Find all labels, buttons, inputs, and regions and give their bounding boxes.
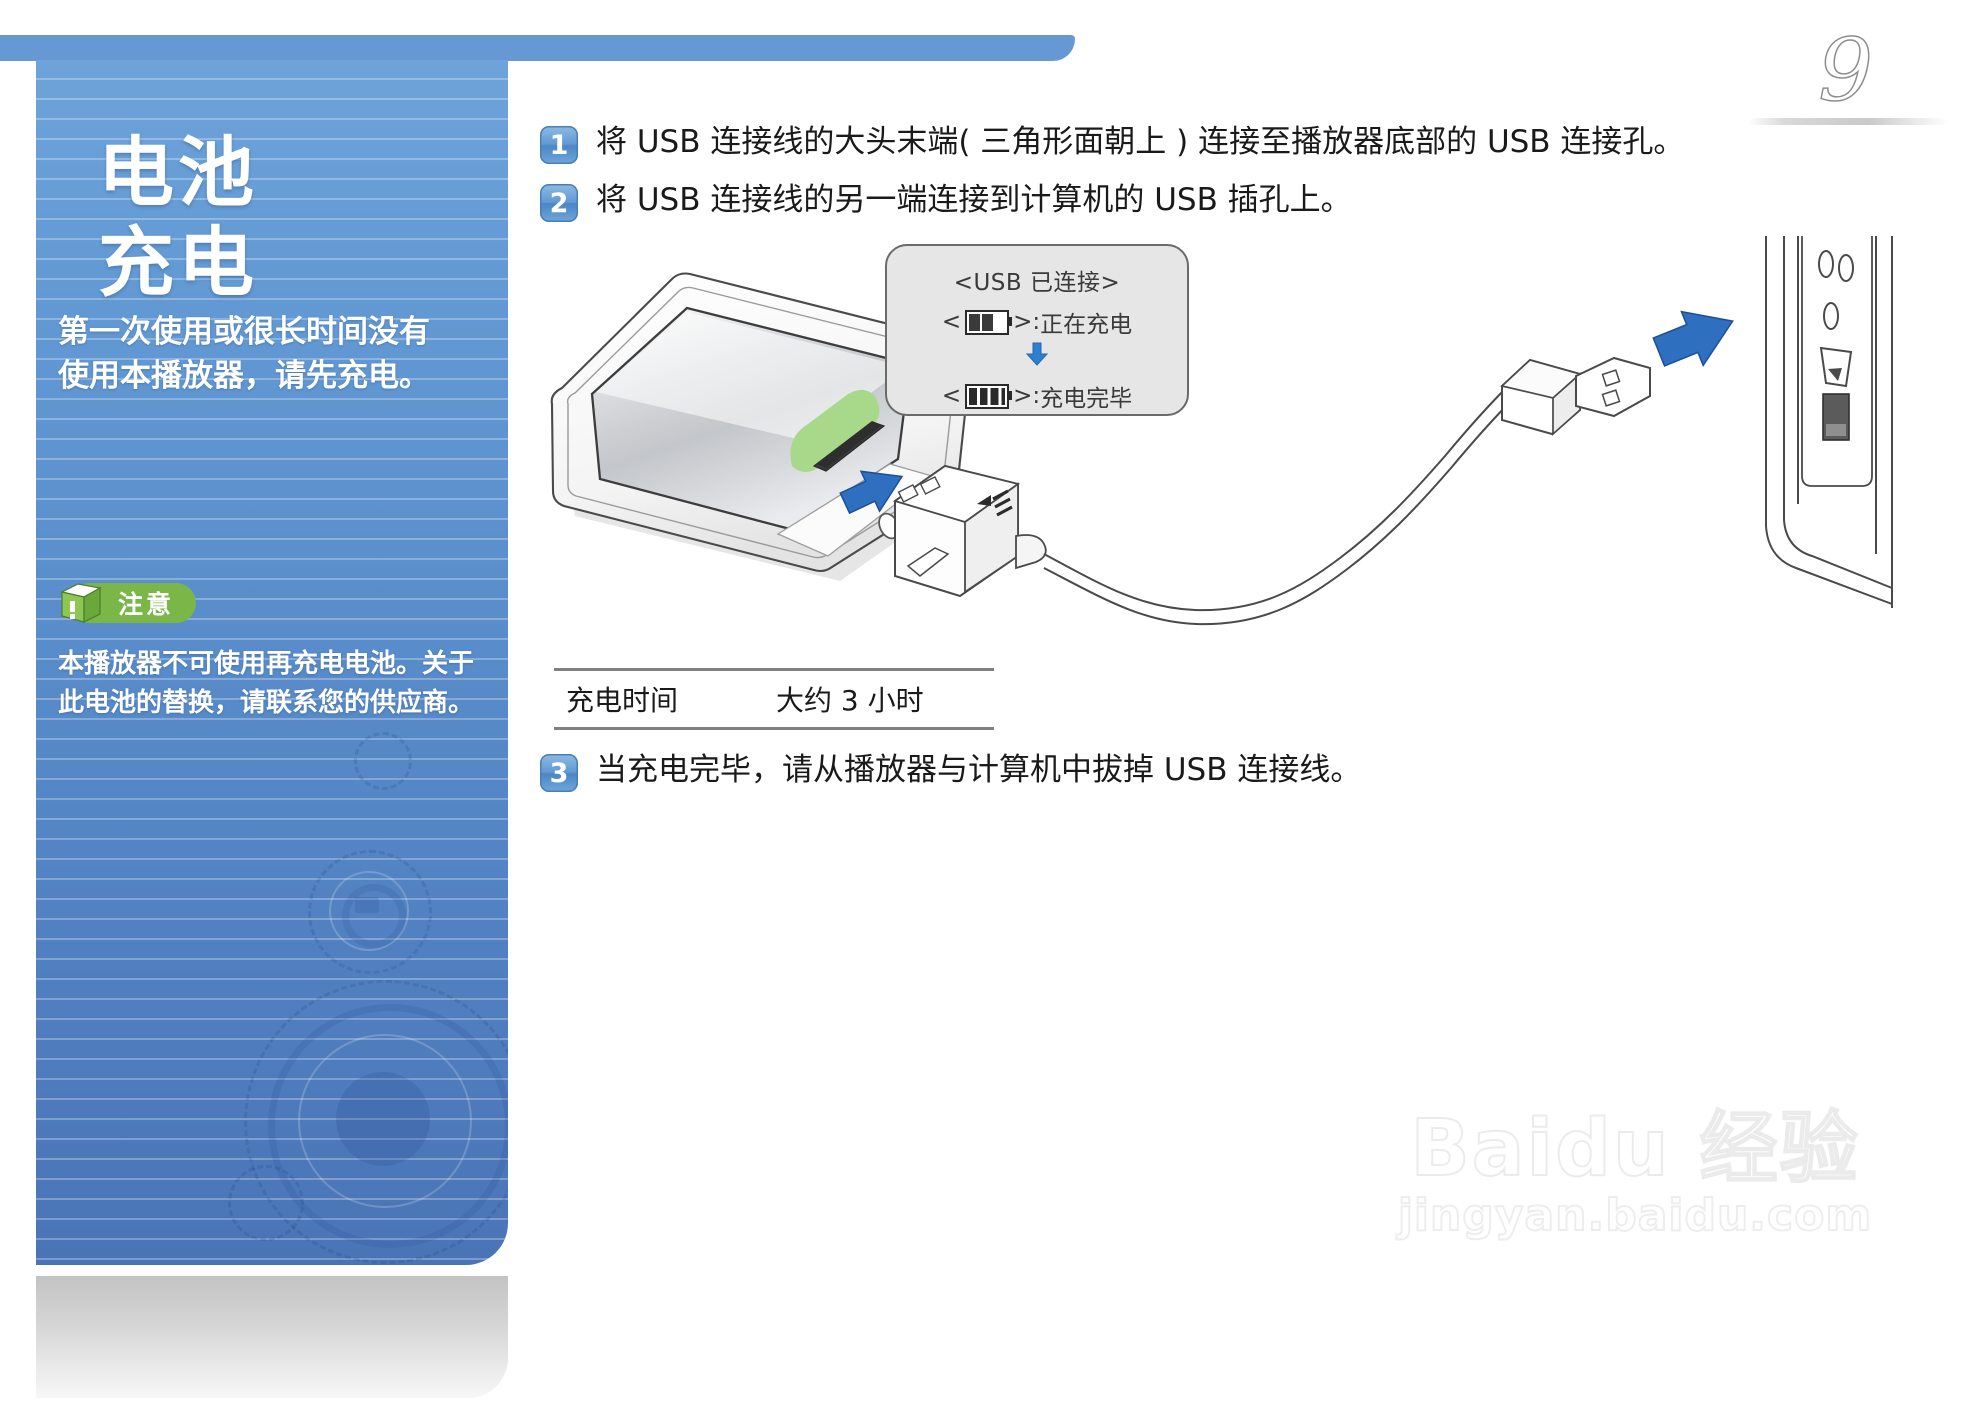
usb-dock-connector-illustration [895,466,1046,596]
battery-charging-icon [965,310,1009,335]
step-item-2: 2 将 USB 连接线的另一端连接到计算机的 USB 插孔上。 [540,178,1940,222]
callout-suffix-charging: >: [1013,309,1040,335]
step-item-1: 1 将 USB 连接线的大头末端( 三角形面朝上 ) 连接至播放器底部的 USB… [540,120,1940,164]
arrow-down-icon [887,341,1187,371]
sidebar-reflection [36,1276,508,1398]
callout-prefix-full: < [942,383,961,409]
callout-suffix-full: >: [1013,383,1040,409]
baidu-watermark: Baidu 经验 jingyan.baidu.com [1395,1110,1875,1238]
note-badge: 注意 [58,580,196,626]
callout-label-full: 充电完毕 [1040,379,1132,413]
usb-cable-illustration [1044,386,1514,624]
green-box-exclamation-icon [58,580,104,626]
callout-prefix-charging: < [942,309,961,335]
decor-circle-large-inner [298,1034,472,1208]
decor-circle-small [354,732,412,790]
callout-label-charging: 正在充电 [1040,305,1132,339]
decor-circle-medium-inner [329,871,409,951]
step-number-badge-3: 3 [540,754,578,792]
decor-circle-tiny [228,1165,304,1241]
decor-circle-dot [355,897,379,913]
decor-circle-large-dash [244,980,508,1264]
usb-status-callout: <USB 已连接> < >: 正在充电 < >: 充电完毕 [885,244,1189,416]
main-content: 1 将 USB 连接线的大头末端( 三角形面朝上 ) 连接至播放器底部的 USB… [540,120,1940,806]
step-number-badge-1: 1 [540,126,578,164]
charging-time-value: 大约 3 小时 [776,679,924,719]
illustration-svg [540,236,1935,666]
callout-title: <USB 已连接> [887,263,1187,297]
callout-row-charging: < >: 正在充电 [887,305,1187,339]
step-text-3: 当充电完毕，请从播放器与计算机中拔掉 USB 连接线。 [596,748,1361,792]
sidebar-lead-text: 第一次使用或很长时间没有使用本播放器，请先充电。 [58,310,458,398]
decor-circle-medium [308,850,432,974]
callout-row-full: < >: 充电完毕 [887,379,1187,413]
decor-circle-large-dot [336,1072,430,1166]
charging-time-label: 充电时间 [554,679,776,719]
arrow-insert-pc-icon [1648,295,1744,379]
sidebar-title: 电池 充电 [98,128,258,307]
note-badge-label: 注意 [118,585,174,621]
charging-illustration: <USB 已连接> < >: 正在充电 < >: 充电完毕 [540,236,1935,666]
sidebar-note-text: 本播放器不可使用再充电电池。关于此电池的替换，请联系您的供应商。 [58,645,478,723]
decor-circle-ring [342,884,406,948]
watermark-brand: Baidu 经验 [1395,1110,1875,1188]
step-text-2: 将 USB 连接线的另一端连接到计算机的 USB 插孔上。 [596,178,1352,222]
charging-time-table: 充电时间 大约 3 小时 [554,668,994,730]
sidebar: 电池 充电 第一次使用或很长时间没有使用本播放器，请先充电。 注意 本播放器不可… [36,60,508,1265]
step-text-1: 将 USB 连接线的大头末端( 三角形面朝上 ) 连接至播放器底部的 USB 连… [596,120,1684,164]
usb-plug-illustration [1502,358,1650,434]
watermark-url: jingyan.baidu.com [1395,1194,1875,1238]
decor-circle-large [268,1004,508,1248]
battery-full-icon [965,384,1009,409]
page-number: 9 [1818,28,1873,114]
top-blue-band [0,35,1075,61]
step-item-3: 3 当充电完毕，请从播放器与计算机中拔掉 USB 连接线。 [540,748,1940,792]
step-number-badge-2: 2 [540,184,578,222]
